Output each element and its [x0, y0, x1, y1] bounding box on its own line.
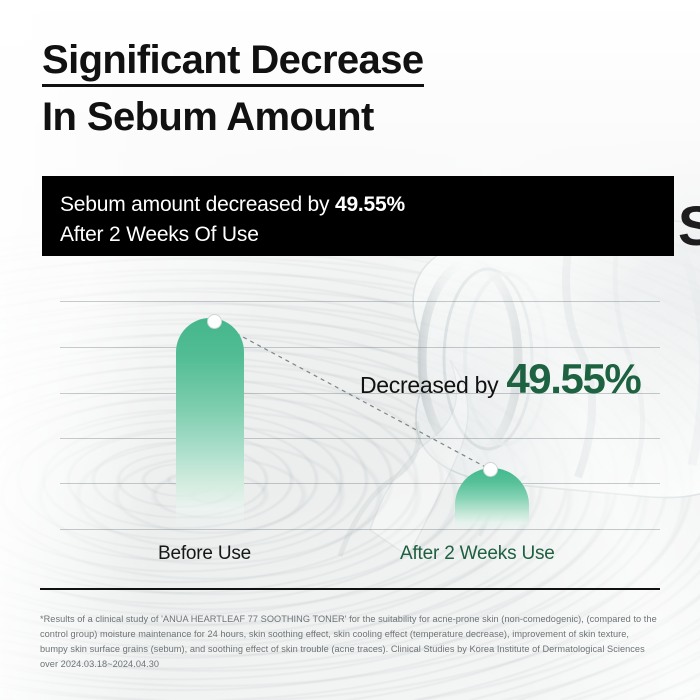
data-point-after-2-weeks[interactable]	[483, 462, 498, 477]
bar-before-use[interactable]	[176, 318, 244, 530]
result-banner-line-1: Sebum amount decreased by 49.55%	[60, 190, 674, 220]
bar-label-after-2-weeks: After 2 Weeks Use	[400, 543, 555, 565]
bar-label-before-use: Before Use	[158, 543, 251, 565]
result-banner-line-1-prefix: Sebum amount decreased by	[60, 193, 335, 216]
result-banner-line-2: After 2 Weeks Of Use	[60, 220, 674, 250]
footer-divider	[40, 588, 660, 590]
page-title-line-1: Significant Decrease	[42, 38, 424, 87]
decrease-callout-lead: Decreased by	[360, 372, 498, 399]
clipped-edge-glyph: S	[678, 198, 700, 254]
page-title: Significant Decrease In Sebum Amount	[42, 38, 424, 140]
page-title-line-2: In Sebum Amount	[42, 94, 424, 140]
result-banner: Sebum amount decreased by 49.55% After 2…	[42, 176, 674, 256]
infographic-canvas: Significant Decrease In Sebum Amount Seb…	[0, 0, 700, 700]
decrease-callout-value: 49.55%	[506, 355, 640, 403]
result-banner-percentage: 49.55%	[335, 193, 405, 216]
data-point-before-use[interactable]	[207, 314, 222, 329]
decrease-callout: Decreased by 49.55%	[360, 355, 640, 403]
clinical-study-footnote: *Results of a clinical study of 'ANUA HE…	[40, 612, 658, 672]
